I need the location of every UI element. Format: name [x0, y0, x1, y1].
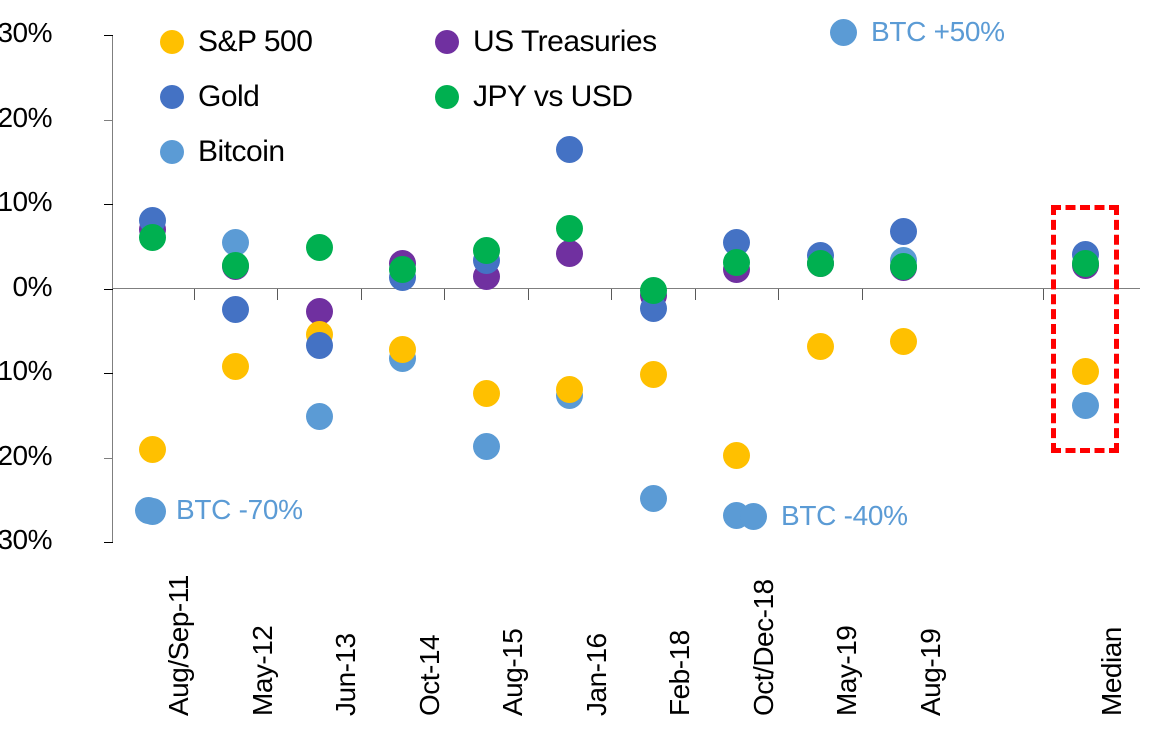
data-point	[556, 240, 583, 267]
x-axis-tick-label: Oct-14	[414, 635, 446, 716]
y-axis-tick	[104, 204, 113, 205]
legend-item-gold[interactable]: Gold	[160, 69, 312, 124]
legend-column: US TreasuriesJPY vs USD	[435, 14, 657, 124]
legend-item-s-p-500[interactable]: S&P 500	[160, 14, 312, 69]
chart-canvas: 30%20%10%0%-10%-20%-30% Aug/Sep-11May-12…	[0, 0, 1151, 739]
x-axis-tick-label: Jan-16	[581, 633, 613, 716]
annotation-dot-icon	[830, 19, 857, 46]
y-axis-tick	[104, 458, 113, 459]
data-point	[222, 252, 249, 279]
data-point	[640, 277, 667, 304]
data-point	[222, 353, 249, 380]
data-point	[556, 215, 583, 242]
data-point	[556, 376, 583, 403]
data-point	[640, 485, 667, 512]
y-axis-tick-label: -10%	[0, 355, 52, 387]
y-axis-tick	[104, 289, 113, 290]
x-axis-tick-label: Jun-13	[330, 633, 362, 716]
data-point	[306, 403, 333, 430]
annotation-label: BTC +50%	[871, 16, 1005, 48]
data-point	[807, 250, 834, 277]
legend-dot-icon	[160, 85, 184, 109]
legend-dot-icon	[435, 85, 459, 109]
legend-item-label: Gold	[198, 80, 259, 114]
y-axis-tick-label: 20%	[0, 102, 52, 134]
legend-item-us-treasuries[interactable]: US Treasuries	[435, 14, 657, 69]
y-axis-tick-label: 0%	[13, 271, 52, 303]
data-point	[640, 361, 667, 388]
y-axis-tick	[104, 542, 113, 543]
legend-dot-icon	[435, 30, 459, 54]
annotation-btc-up-50: BTC +50%	[830, 16, 1005, 48]
legend-dot-icon	[160, 30, 184, 54]
annotation-btc-down-70: BTC -70%	[135, 494, 303, 526]
legend-item-label: JPY vs USD	[473, 80, 633, 114]
x-axis-tick-label: May-12	[247, 626, 279, 716]
y-axis-tick	[104, 120, 113, 121]
legend-item-label: S&P 500	[198, 25, 312, 59]
data-point	[1072, 250, 1099, 277]
x-axis-tick-label: Aug/Sep-11	[163, 575, 195, 716]
data-point	[556, 136, 583, 163]
data-point	[723, 249, 750, 276]
data-point	[473, 380, 500, 407]
y-axis-tick-label: -20%	[0, 440, 52, 472]
x-axis-tick-label: Feb-18	[664, 630, 696, 716]
data-point	[222, 296, 249, 323]
y-axis-tick	[104, 373, 113, 374]
legend-item-label: Bitcoin	[198, 135, 285, 169]
data-point	[890, 253, 917, 280]
annotation-dot-icon	[135, 497, 162, 524]
y-axis-tick-label: -30%	[0, 524, 52, 556]
data-point	[1072, 392, 1099, 419]
data-point	[473, 237, 500, 264]
data-point	[890, 328, 917, 355]
data-point	[723, 442, 750, 469]
x-axis-tick-label: Aug-19	[915, 629, 947, 716]
data-point	[389, 336, 416, 363]
legend-column: S&P 500GoldBitcoin	[160, 14, 312, 179]
data-point	[807, 333, 834, 360]
x-axis-tick-label: Oct/Dec-18	[748, 579, 780, 716]
legend-dot-icon	[160, 140, 184, 164]
x-axis-tick-label: May-19	[831, 626, 863, 716]
data-point	[139, 224, 166, 251]
y-axis-tick-label: 30%	[0, 17, 52, 49]
legend-item-label: US Treasuries	[473, 25, 657, 59]
y-axis-tick	[104, 35, 113, 36]
annotation-dot-icon	[740, 503, 767, 530]
data-point	[389, 256, 416, 283]
data-point	[306, 332, 333, 359]
legend-item-jpy-vs-usd[interactable]: JPY vs USD	[435, 69, 657, 124]
y-axis-tick-label: 10%	[0, 186, 52, 218]
data-point	[139, 436, 166, 463]
legend-item-bitcoin[interactable]: Bitcoin	[160, 124, 312, 179]
x-axis-tick-label: Aug-15	[497, 629, 529, 716]
annotation-label: BTC -70%	[176, 494, 303, 526]
data-point	[890, 218, 917, 245]
annotation-btc-down-40: BTC -40%	[740, 500, 908, 532]
x-axis-tick-label: Median	[1096, 627, 1128, 716]
data-point	[1072, 358, 1099, 385]
annotation-label: BTC -40%	[781, 500, 908, 532]
data-point	[473, 433, 500, 460]
data-point	[306, 234, 333, 261]
